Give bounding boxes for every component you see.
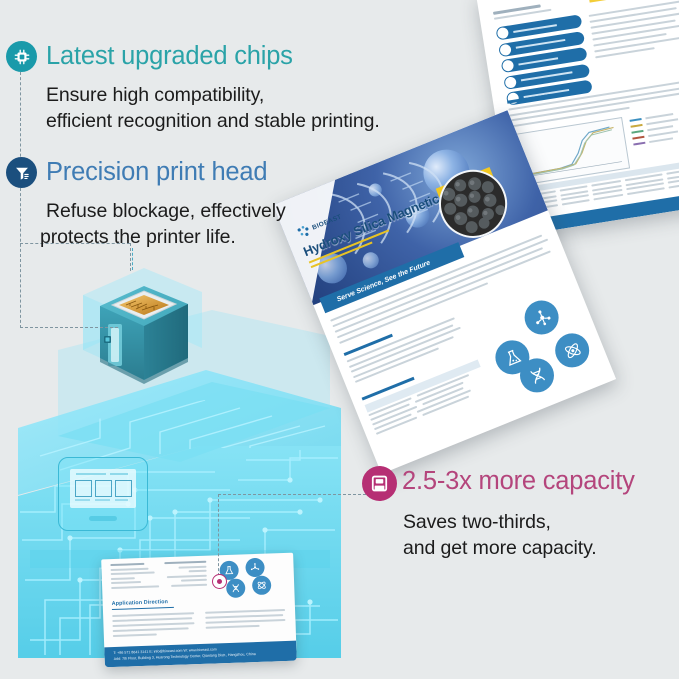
printer-control-panel[interactable]: [58, 457, 148, 531]
atom-icon: [550, 328, 594, 372]
feature-precision-print-head: Precision print head: [6, 157, 267, 188]
connector-head-down: [20, 188, 21, 328]
feature-1-body-line-2: efficient recognition and stable printin…: [46, 108, 380, 134]
feature-title: Latest upgraded chips: [46, 41, 293, 71]
chip-icon: [6, 41, 37, 72]
ink-cartridge: [78, 262, 208, 397]
printed-page-heading: Application Direction: [112, 599, 168, 607]
feature-2-body-line-2: protects the printer life.: [40, 224, 236, 250]
printed-page-icons: [219, 557, 284, 597]
ink-cartridge-icon: [362, 466, 397, 501]
molecule-icon: [519, 295, 563, 339]
printed-page: Application Direction: [101, 553, 297, 668]
feature-more-capacity: 2.5-3x more capacity: [362, 466, 635, 501]
molecule-icon: [245, 558, 265, 578]
atom-icon: [252, 575, 272, 595]
capacity-target-marker: [212, 574, 227, 589]
connector-capacity-right: [218, 494, 376, 495]
brochure-application-icons: [481, 288, 602, 404]
feature-latest-upgraded-chips: Latest upgraded chips: [6, 41, 293, 72]
cartridge-top-connector: [132, 248, 133, 270]
connector-capacity-up: [218, 494, 219, 576]
feature-3-body-line-1: Saves two-thirds,: [403, 509, 551, 535]
infographic-canvas: Serve Science, See the Future: [0, 0, 679, 679]
dna-icon: [226, 578, 246, 598]
feature-2-body-line-1: Refuse blockage, effectively: [46, 198, 286, 224]
feature-title: Precision print head: [46, 157, 267, 187]
feature-title: 2.5-3x more capacity: [402, 466, 635, 496]
connector-to-cartridge-chip: [20, 327, 118, 328]
print-head-filter-icon: [6, 157, 37, 188]
feature-1-body-line-1: Ensure high compatibility,: [46, 82, 264, 108]
feature-3-body-line-2: and get more capacity.: [403, 535, 597, 561]
